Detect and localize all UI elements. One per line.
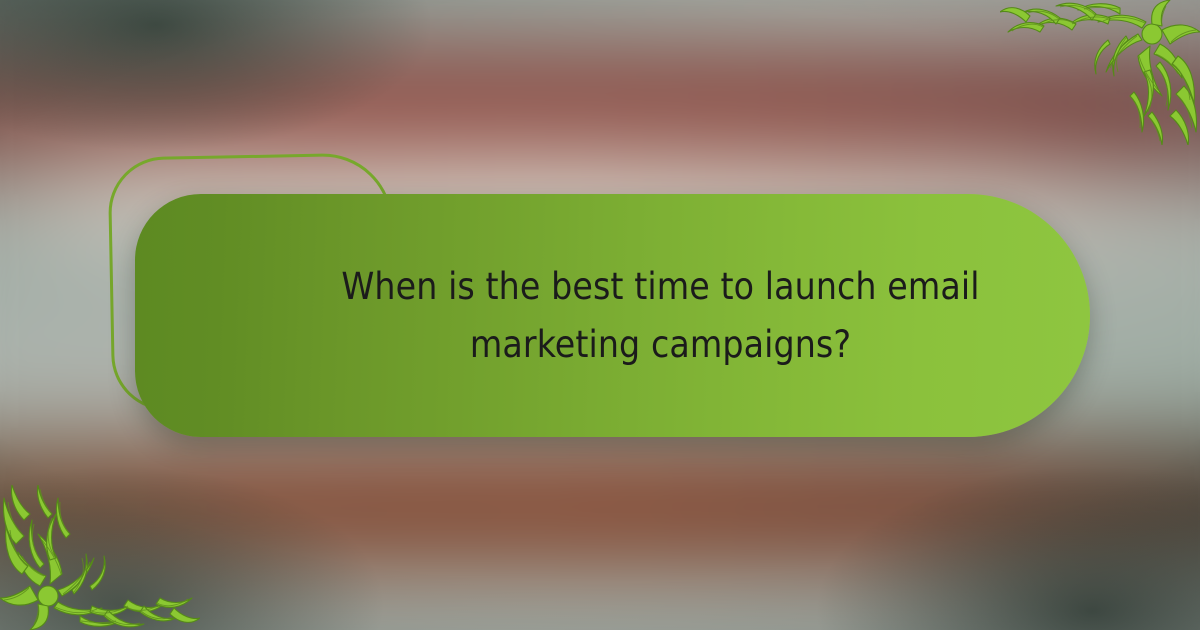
social-quote-card-canvas: When is the best time to launch email ma… bbox=[0, 0, 1200, 630]
quote-card: When is the best time to launch email ma… bbox=[135, 194, 1090, 437]
quote-text: When is the best time to launch email ma… bbox=[201, 258, 1025, 373]
